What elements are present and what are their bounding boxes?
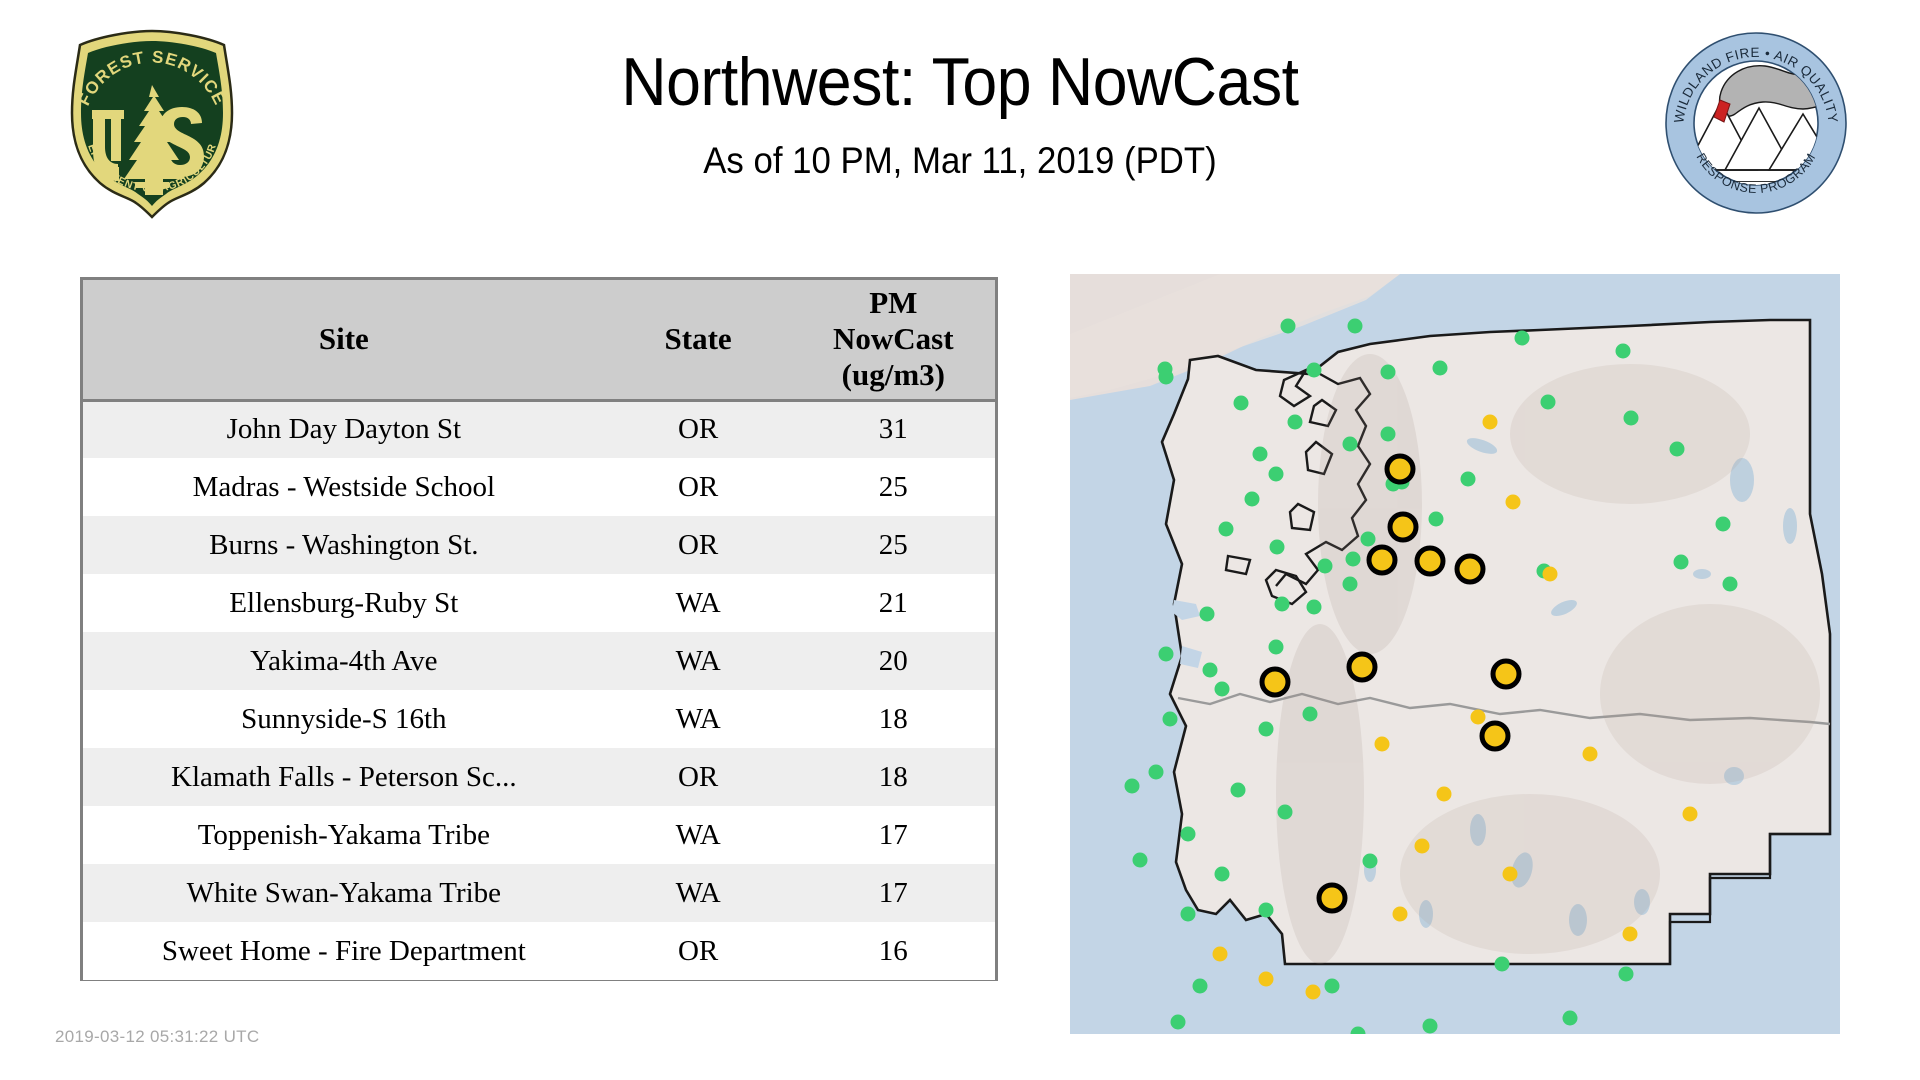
cell-pm-nowcast: 21 xyxy=(792,574,995,632)
table-header-row: Site State PM NowCast (ug/m3) xyxy=(83,280,995,400)
map-marker-good[interactable] xyxy=(1133,853,1148,868)
map-marker-good[interactable] xyxy=(1203,663,1218,678)
map-marker-moderate[interactable] xyxy=(1306,985,1321,1000)
title-block: Northwest: Top NowCast As of 10 PM, Mar … xyxy=(300,40,1620,184)
cell-site: Madras - Westside School xyxy=(83,458,605,516)
map-marker-moderate[interactable] xyxy=(1503,867,1518,882)
cell-state: WA xyxy=(605,864,792,922)
slide-canvas: FOREST SERVICE DEPARTMENT OF AGRICULTURE xyxy=(0,0,1920,1080)
map-marker-good[interactable] xyxy=(1563,1011,1578,1026)
cell-pm-nowcast: 16 xyxy=(792,922,995,980)
map-marker-good[interactable] xyxy=(1363,854,1378,869)
map-marker-good[interactable] xyxy=(1275,597,1290,612)
map-marker-moderate[interactable] xyxy=(1393,907,1408,922)
map-marker-good[interactable] xyxy=(1433,361,1448,376)
cell-state: OR xyxy=(605,922,792,980)
map-marker-good[interactable] xyxy=(1259,903,1274,918)
cell-state: WA xyxy=(605,574,792,632)
map-marker-good[interactable] xyxy=(1723,577,1738,592)
map-marker-moderate[interactable] xyxy=(1623,927,1638,942)
map-marker-good[interactable] xyxy=(1624,411,1639,426)
table-row[interactable]: Klamath Falls - Peterson Sc...OR18 xyxy=(83,748,995,806)
wildland-fire-air-quality-badge-icon: WILDLAND FIRE • AIR QUALITY RESPONSE PRO… xyxy=(1663,30,1849,216)
column-header-state[interactable]: State xyxy=(605,280,792,400)
map-marker-good[interactable] xyxy=(1288,415,1303,430)
cell-site: Ellensburg-Ruby St xyxy=(83,574,605,632)
map-marker-top-site[interactable] xyxy=(1319,885,1345,911)
map-marker-good[interactable] xyxy=(1259,722,1274,737)
map-marker-moderate[interactable] xyxy=(1415,839,1430,854)
map-marker-good[interactable] xyxy=(1215,867,1230,882)
map-marker-top-site[interactable] xyxy=(1493,661,1519,687)
map-marker-moderate[interactable] xyxy=(1437,787,1452,802)
map-marker-moderate[interactable] xyxy=(1543,567,1558,582)
map-marker-top-site[interactable] xyxy=(1262,669,1288,695)
map-marker-moderate[interactable] xyxy=(1483,415,1498,430)
table-header: Site State PM NowCast (ug/m3) xyxy=(83,280,995,400)
cell-pm-nowcast: 18 xyxy=(792,690,995,748)
cell-site: Toppenish-Yakama Tribe xyxy=(83,806,605,864)
cell-state: WA xyxy=(605,632,792,690)
cell-pm-nowcast: 17 xyxy=(792,806,995,864)
cell-site: Sunnyside-S 16th xyxy=(83,690,605,748)
cell-pm-nowcast: 18 xyxy=(792,748,995,806)
map-marker-good[interactable] xyxy=(1163,712,1178,727)
map-marker-good[interactable] xyxy=(1307,363,1322,378)
map-marker-good[interactable] xyxy=(1281,319,1296,334)
map-marker-good[interactable] xyxy=(1159,370,1174,385)
cell-state: OR xyxy=(605,516,792,574)
map-marker-good[interactable] xyxy=(1253,447,1268,462)
map-marker-moderate[interactable] xyxy=(1583,747,1598,762)
cell-pm-nowcast: 25 xyxy=(792,458,995,516)
map-marker-good[interactable] xyxy=(1219,522,1234,537)
map-marker-good[interactable] xyxy=(1495,957,1510,972)
cell-pm-nowcast: 31 xyxy=(792,400,995,458)
map-marker-good[interactable] xyxy=(1381,365,1396,380)
cell-site: White Swan-Yakama Tribe xyxy=(83,864,605,922)
map-marker-moderate[interactable] xyxy=(1375,737,1390,752)
map-marker-good[interactable] xyxy=(1234,396,1249,411)
map-marker-moderate[interactable] xyxy=(1506,495,1521,510)
map-marker-moderate[interactable] xyxy=(1471,710,1486,725)
cell-site: Klamath Falls - Peterson Sc... xyxy=(83,748,605,806)
cell-state: OR xyxy=(605,458,792,516)
table-row[interactable]: Ellensburg-Ruby StWA21 xyxy=(83,574,995,632)
map-marker-good[interactable] xyxy=(1515,331,1530,346)
map-marker-good[interactable] xyxy=(1361,532,1376,547)
map-marker-good[interactable] xyxy=(1318,559,1333,574)
cell-state: OR xyxy=(605,748,792,806)
column-header-state-label: State xyxy=(665,321,732,356)
map-marker-good[interactable] xyxy=(1231,783,1246,798)
map-marker-good[interactable] xyxy=(1616,344,1631,359)
map-marker-moderate[interactable] xyxy=(1259,972,1274,987)
map-marker-good[interactable] xyxy=(1619,967,1634,982)
map-marker-moderate[interactable] xyxy=(1683,807,1698,822)
column-header-site-label: Site xyxy=(319,321,369,356)
footer-timestamp: 2019-03-12 05:31:22 UTC xyxy=(55,1027,259,1047)
cell-site: John Day Dayton St xyxy=(83,400,605,458)
map-marker-good[interactable] xyxy=(1149,765,1164,780)
map-marker-good[interactable] xyxy=(1429,512,1444,527)
map-marker-good[interactable] xyxy=(1245,492,1260,507)
table-row[interactable]: Burns - Washington St.OR25 xyxy=(83,516,995,574)
northwest-monitor-map[interactable] xyxy=(1070,274,1840,1034)
map-marker-top-site[interactable] xyxy=(1417,548,1443,574)
table-row[interactable]: Madras - Westside SchoolOR25 xyxy=(83,458,995,516)
column-header-site[interactable]: Site xyxy=(83,280,605,400)
cell-state: OR xyxy=(605,400,792,458)
cell-pm-nowcast: 25 xyxy=(792,516,995,574)
table-row[interactable]: John Day Dayton StOR31 xyxy=(83,400,995,458)
map-marker-good[interactable] xyxy=(1716,517,1731,532)
table-body: John Day Dayton StOR31Madras - Westside … xyxy=(83,400,995,980)
column-header-pm-line2: NowCast xyxy=(833,321,954,356)
page-title: Northwest: Top NowCast xyxy=(353,40,1567,124)
map-marker-moderate[interactable] xyxy=(1213,947,1228,962)
map-marker-good[interactable] xyxy=(1325,979,1340,994)
map-marker-good[interactable] xyxy=(1343,577,1358,592)
column-header-pm-line3: (ug/m3) xyxy=(842,357,945,392)
map-marker-good[interactable] xyxy=(1381,427,1396,442)
map-marker-good[interactable] xyxy=(1171,1015,1186,1030)
cell-pm-nowcast: 20 xyxy=(792,632,995,690)
column-header-pm-nowcast[interactable]: PM NowCast (ug/m3) xyxy=(792,280,995,400)
page-subtitle: As of 10 PM, Mar 11, 2019 (PDT) xyxy=(340,138,1581,184)
header: FOREST SERVICE DEPARTMENT OF AGRICULTURE xyxy=(0,0,1920,225)
map-marker-good[interactable] xyxy=(1159,647,1174,662)
map-marker-good[interactable] xyxy=(1303,707,1318,722)
map-marker-top-site[interactable] xyxy=(1457,556,1483,582)
map-marker-good[interactable] xyxy=(1674,555,1689,570)
map-marker-top-site[interactable] xyxy=(1387,456,1413,482)
table-row[interactable]: Toppenish-Yakama TribeWA17 xyxy=(83,806,995,864)
map-marker-good[interactable] xyxy=(1307,600,1322,615)
usda-forest-service-shield-icon: FOREST SERVICE DEPARTMENT OF AGRICULTURE xyxy=(52,27,252,219)
nowcast-table-container: Site State PM NowCast (ug/m3) John Day D… xyxy=(80,277,998,981)
map-marker-good[interactable] xyxy=(1200,607,1215,622)
cell-site: Sweet Home - Fire Department xyxy=(83,922,605,980)
map-marker-good[interactable] xyxy=(1278,805,1293,820)
table-row[interactable]: Yakima-4th AveWA20 xyxy=(83,632,995,690)
map-marker-good[interactable] xyxy=(1346,552,1361,567)
map-marker-good[interactable] xyxy=(1343,437,1358,452)
map-marker-good[interactable] xyxy=(1193,979,1208,994)
map-marker-top-site[interactable] xyxy=(1390,514,1416,540)
nowcast-table: Site State PM NowCast (ug/m3) John Day D… xyxy=(83,280,995,980)
map-marker-top-site[interactable] xyxy=(1349,654,1375,680)
cell-site: Yakima-4th Ave xyxy=(83,632,605,690)
map-marker-good[interactable] xyxy=(1125,779,1140,794)
column-header-pm-line1: PM xyxy=(869,285,917,320)
map-marker-top-site[interactable] xyxy=(1369,547,1395,573)
cell-state: WA xyxy=(605,690,792,748)
table-row[interactable]: Sweet Home - Fire DepartmentOR16 xyxy=(83,922,995,980)
cell-site: Burns - Washington St. xyxy=(83,516,605,574)
table-row[interactable]: White Swan-Yakama TribeWA17 xyxy=(83,864,995,922)
map-marker-top-site[interactable] xyxy=(1482,723,1508,749)
map-marker-good[interactable] xyxy=(1461,472,1476,487)
map-marker-good[interactable] xyxy=(1181,827,1196,842)
map-marker-good[interactable] xyxy=(1423,1019,1438,1034)
map-marker-good[interactable] xyxy=(1270,540,1285,555)
map-marker-good[interactable] xyxy=(1181,907,1196,922)
map-marker-good[interactable] xyxy=(1541,395,1556,410)
map-marker-good[interactable] xyxy=(1269,467,1284,482)
cell-pm-nowcast: 17 xyxy=(792,864,995,922)
map-marker-good[interactable] xyxy=(1670,442,1685,457)
map-marker-good[interactable] xyxy=(1269,640,1284,655)
map-marker-good[interactable] xyxy=(1215,682,1230,697)
map-marker-good[interactable] xyxy=(1348,319,1363,334)
cell-state: WA xyxy=(605,806,792,864)
table-row[interactable]: Sunnyside-S 16thWA18 xyxy=(83,690,995,748)
